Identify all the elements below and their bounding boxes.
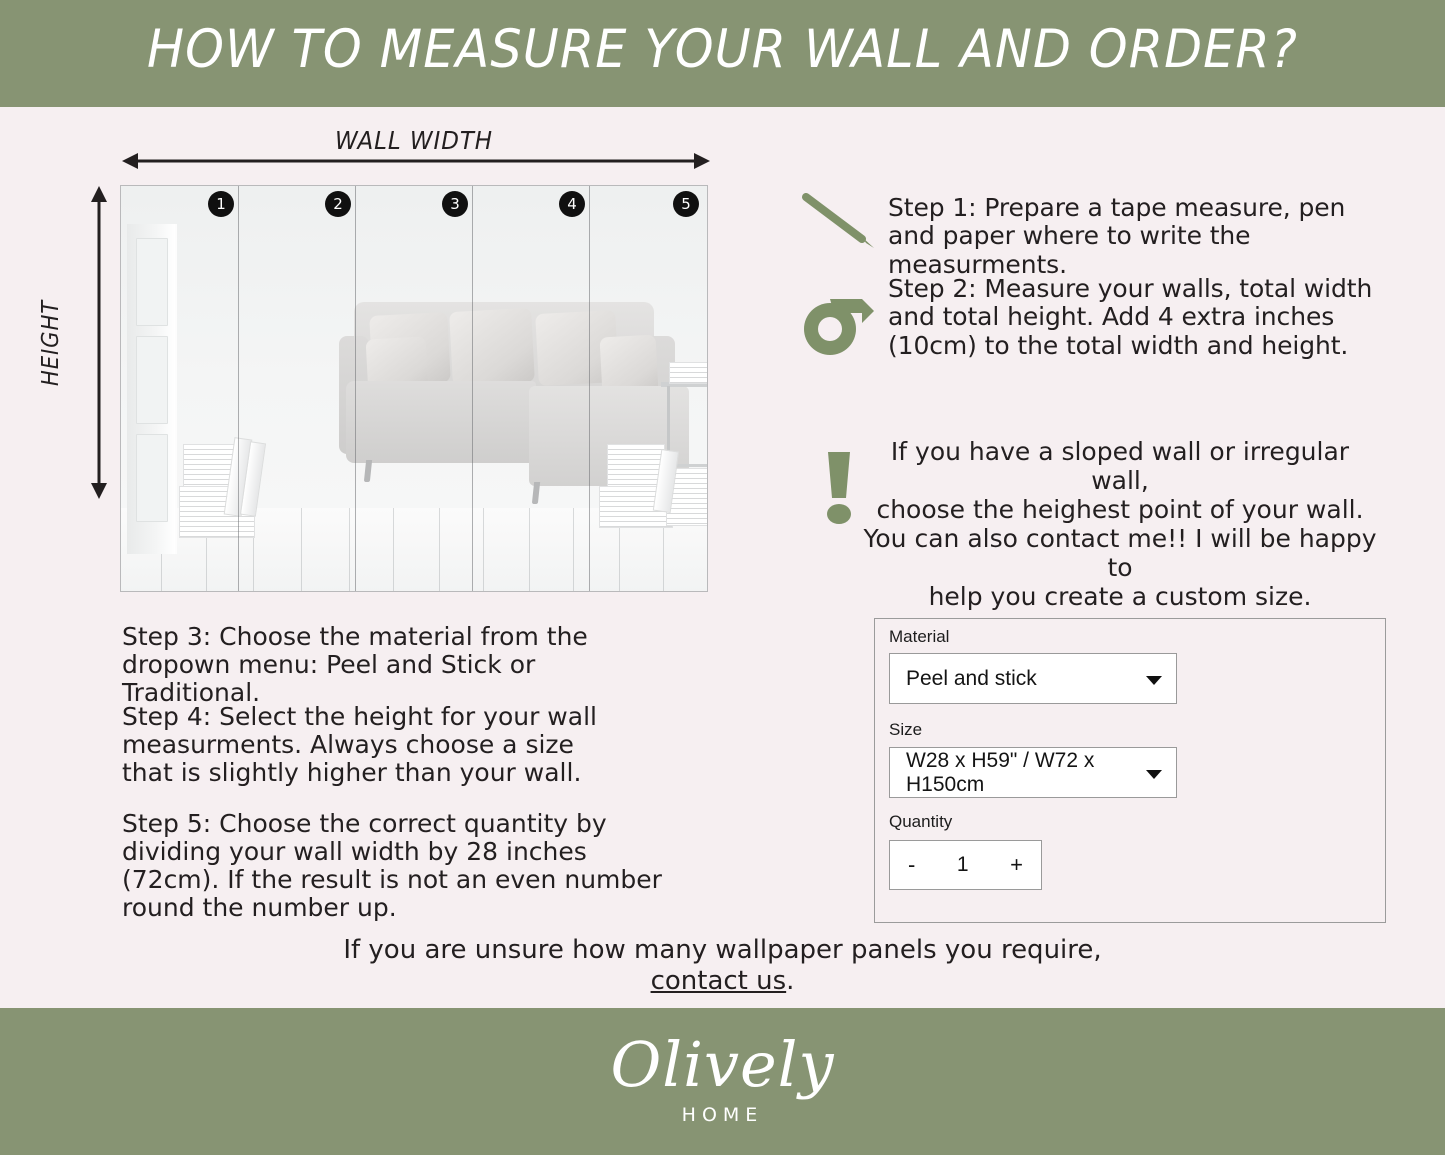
contact-block: If you are unsure how many wallpaper pan… <box>0 935 1445 996</box>
step-2-text: Step 2: Measure your walls, total width … <box>888 275 1384 360</box>
step-4-text: Step 4: Select the height for your wall … <box>122 703 622 787</box>
contact-period: . <box>786 966 794 996</box>
panel-badge-5: 5 <box>673 191 699 217</box>
step-1-text: Step 1: Prepare a tape measure, pen and … <box>888 194 1378 279</box>
quantity-increment-button[interactable]: + <box>1010 852 1023 878</box>
page-title: HOW TO MEASURE YOUR WALL AND ORDER? <box>51 19 1395 80</box>
wall-height-label: HEIGHT <box>38 283 64 403</box>
size-select[interactable]: W28 x H59" / W72 x H150cm <box>889 747 1177 798</box>
panel-badge-3: 3 <box>442 191 468 217</box>
size-value: W28 x H59" / W72 x H150cm <box>890 749 1176 797</box>
note-line-1: If you have a sloped wall or irregular w… <box>891 437 1349 495</box>
chevron-down-icon <box>1146 770 1162 779</box>
note-line-3: You can also contact me!! I will be happ… <box>863 524 1376 582</box>
material-value: Peel and stick <box>890 667 1037 691</box>
panel-badge-4: 4 <box>559 191 585 217</box>
brand-logo: Olively <box>0 1028 1445 1101</box>
panel-seam <box>472 186 473 592</box>
note-line-4: help you create a custom size. <box>929 582 1312 611</box>
step-5-text: Step 5: Choose the correct quantity by d… <box>122 810 682 922</box>
chevron-down-icon <box>1146 676 1162 685</box>
book-stack <box>669 362 708 384</box>
note-line-2: choose the heighest point of your wall. <box>876 495 1363 524</box>
quantity-decrement-button[interactable]: - <box>908 852 915 878</box>
panel-badge-2: 2 <box>325 191 351 217</box>
brand-subtitle: HOME <box>0 1104 1445 1126</box>
sofa-seat <box>346 381 536 463</box>
pencil-icon <box>800 193 880 253</box>
panel-seam <box>589 186 590 592</box>
size-label: Size <box>889 720 922 740</box>
sloped-wall-note: If you have a sloped wall or irregular w… <box>860 437 1380 611</box>
panel-seam <box>355 186 356 592</box>
contact-us-link[interactable]: contact us <box>651 966 787 996</box>
quantity-value: 1 <box>957 853 969 877</box>
step-3-text: Step 3: Choose the material from the dro… <box>122 623 667 707</box>
room-preview-image <box>120 185 708 592</box>
exclamation-icon <box>818 450 860 526</box>
panel-seam <box>238 186 239 592</box>
contact-line: If you are unsure how many wallpaper pan… <box>343 935 1101 965</box>
quantity-stepper[interactable]: - 1 + <box>889 840 1042 890</box>
material-label: Material <box>889 627 949 647</box>
material-select[interactable]: Peel and stick <box>889 653 1177 704</box>
wall-height-arrow-icon <box>88 186 110 499</box>
tape-measure-icon <box>800 285 886 357</box>
room-door <box>127 224 177 554</box>
panel-badge-1: 1 <box>208 191 234 217</box>
pillow <box>449 308 535 386</box>
wall-width-arrow-icon <box>122 150 710 172</box>
quantity-label: Quantity <box>889 812 952 832</box>
